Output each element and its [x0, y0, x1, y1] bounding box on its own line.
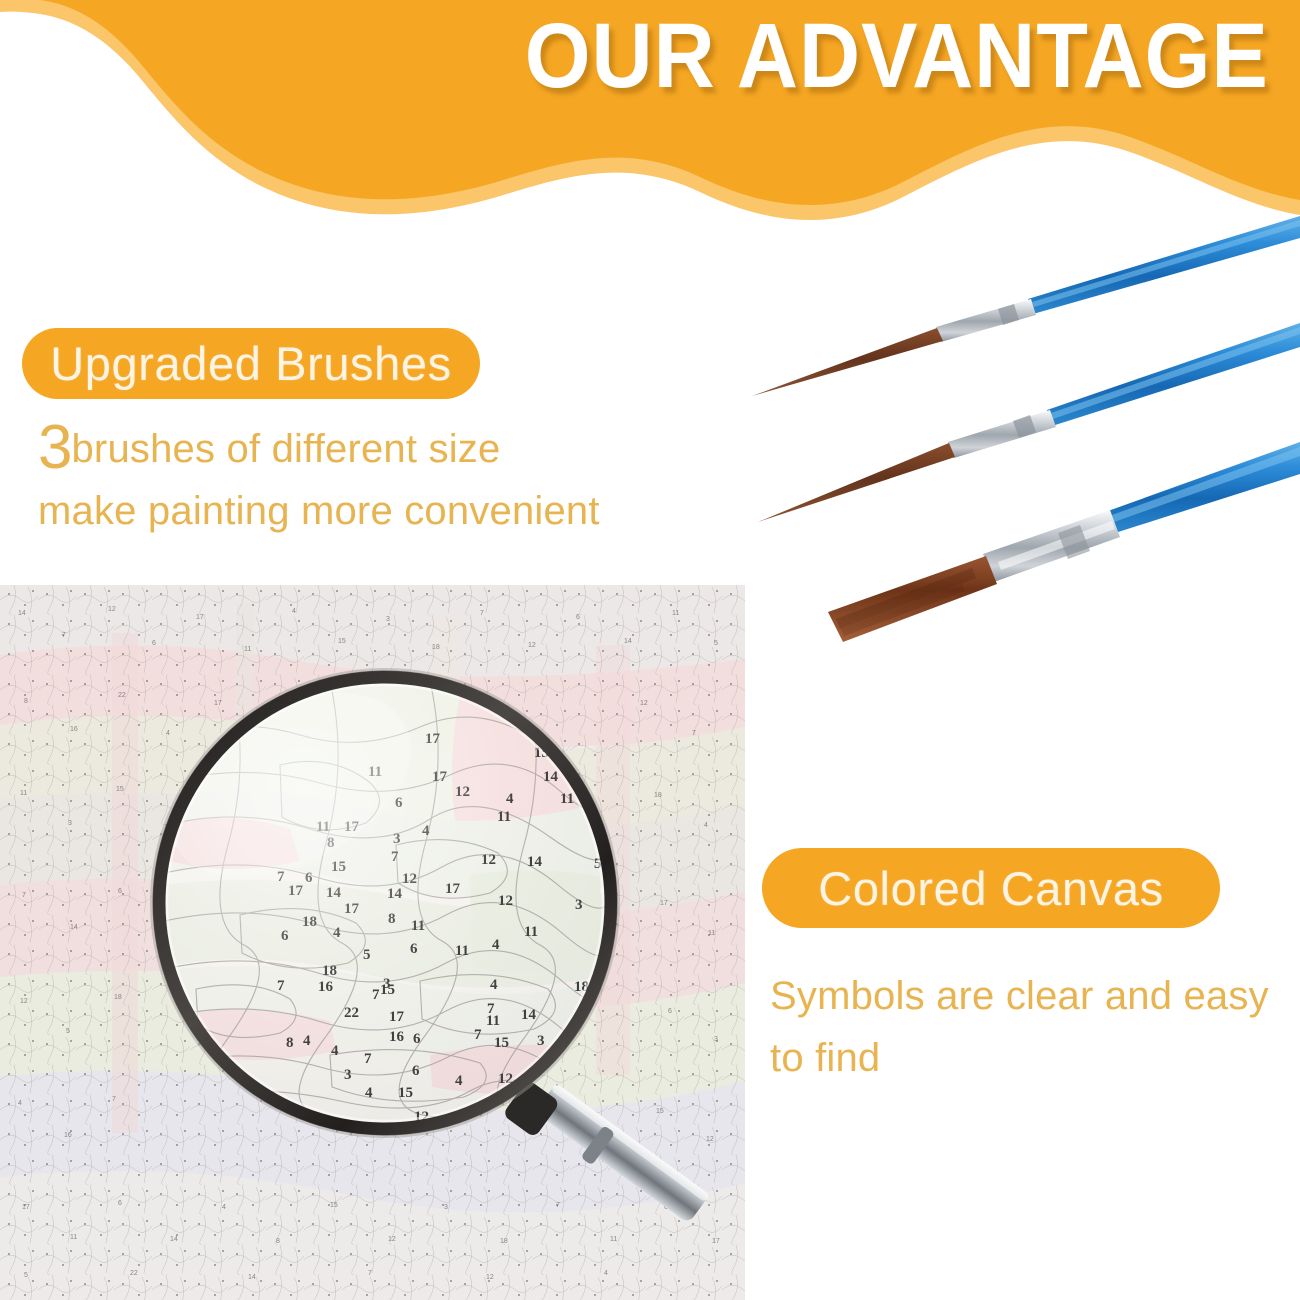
svg-text:11: 11 [672, 610, 679, 617]
feature-copy-line-2: make painting more convenient [38, 480, 678, 542]
svg-text:7: 7 [556, 1202, 560, 1209]
svg-text:7: 7 [480, 610, 484, 617]
svg-text:15: 15 [656, 1108, 664, 1115]
svg-text:14: 14 [248, 1274, 256, 1281]
svg-text:6: 6 [118, 1200, 122, 1207]
svg-text:4: 4 [166, 730, 170, 737]
svg-text:3: 3 [444, 1204, 448, 1211]
svg-text:16: 16 [70, 726, 78, 733]
svg-text:3: 3 [386, 616, 390, 623]
svg-text:11: 11 [70, 1234, 77, 1241]
svg-text:11: 11 [244, 646, 251, 653]
canvas-photo: 147 126 1711 415 318 712 614 115 816 224… [0, 585, 745, 1300]
feature-pill-label: Colored Canvas [818, 861, 1163, 916]
brush-illustration-svg [740, 210, 1300, 670]
svg-text:3: 3 [714, 1036, 718, 1043]
svg-text:14: 14 [624, 638, 632, 645]
svg-text:15: 15 [338, 638, 346, 645]
svg-text:18: 18 [654, 792, 662, 799]
feature-copy-upgraded-brushes: 3brushes of different size make painting… [38, 418, 678, 542]
svg-text:12: 12 [706, 1136, 714, 1143]
svg-text:22: 22 [118, 692, 126, 699]
svg-text:4: 4 [222, 1204, 226, 1211]
svg-text:7: 7 [692, 730, 696, 737]
svg-text:14: 14 [70, 924, 78, 931]
brush-bristle [752, 328, 943, 396]
svg-text:5: 5 [66, 1028, 70, 1035]
svg-text:17: 17 [214, 700, 222, 707]
svg-text:17: 17 [196, 614, 204, 621]
svg-text:18: 18 [500, 1238, 508, 1245]
svg-text:17: 17 [22, 1204, 30, 1211]
canvas-photo-svg: 147 126 1711 415 318 712 614 115 816 224… [0, 585, 745, 1300]
svg-text:7: 7 [112, 1096, 116, 1103]
feature-copy-text-1: brushes of different size [71, 427, 500, 471]
svg-text:12: 12 [108, 606, 116, 613]
feature-copy-colored-canvas: Symbols are clear and easy to find [770, 965, 1270, 1089]
svg-text:6: 6 [118, 888, 122, 895]
svg-text:11: 11 [708, 930, 715, 937]
brush-handle-highlight [1112, 447, 1300, 522]
svg-text:11: 11 [20, 790, 27, 797]
svg-text:6: 6 [668, 1008, 672, 1015]
brush-count-number: 3 [38, 413, 71, 482]
feature-copy-line-2: to find [770, 1027, 1270, 1089]
feature-pill-upgraded-brushes: Upgraded Brushes [22, 328, 480, 399]
feature-pill-label: Upgraded Brushes [50, 336, 452, 391]
brush-photo [740, 210, 1300, 670]
svg-text:4: 4 [18, 1100, 22, 1107]
brush-bristle [758, 443, 955, 522]
svg-text:18: 18 [114, 994, 122, 1001]
svg-text:14: 14 [18, 610, 26, 617]
svg-text:18: 18 [432, 644, 440, 651]
svg-text:17: 17 [660, 900, 668, 907]
svg-text:16: 16 [64, 1132, 72, 1139]
svg-text:17: 17 [712, 1238, 720, 1245]
svg-text:7: 7 [368, 1270, 372, 1277]
svg-text:14: 14 [170, 1236, 178, 1243]
svg-text:12: 12 [528, 642, 536, 649]
svg-text:15: 15 [116, 786, 124, 793]
brush-ferrule [936, 299, 1036, 342]
svg-text:5: 5 [24, 1272, 28, 1279]
svg-text:5: 5 [714, 640, 718, 647]
svg-text:12: 12 [20, 998, 28, 1005]
svg-text:4: 4 [604, 1270, 608, 1277]
svg-text:22: 22 [130, 1270, 138, 1277]
svg-text:3: 3 [68, 820, 72, 827]
brush-handle-highlight [1051, 327, 1300, 419]
svg-text:8: 8 [24, 698, 28, 705]
svg-text:12: 12 [388, 1236, 396, 1243]
svg-text:4: 4 [704, 822, 708, 829]
svg-text:12: 12 [486, 1274, 494, 1281]
brush-handle-highlight [1032, 220, 1300, 307]
feature-copy-line-1: 3brushes of different size [38, 418, 678, 480]
svg-text:6: 6 [152, 640, 156, 647]
svg-text:7: 7 [62, 632, 66, 639]
feature-copy-line-1: Symbols are clear and easy [770, 965, 1270, 1027]
svg-text:8: 8 [276, 1238, 280, 1245]
svg-text:15: 15 [330, 1202, 338, 1209]
svg-text:4: 4 [292, 608, 296, 615]
brush-ferrule [948, 410, 1056, 458]
feature-pill-colored-canvas: Colored Canvas [762, 848, 1220, 928]
page-title: OUR ADVANTAGE [104, 8, 1300, 105]
svg-text:6: 6 [576, 614, 580, 621]
svg-text:12: 12 [640, 700, 648, 707]
svg-text:11: 11 [610, 1236, 617, 1243]
svg-text:7: 7 [22, 892, 26, 899]
